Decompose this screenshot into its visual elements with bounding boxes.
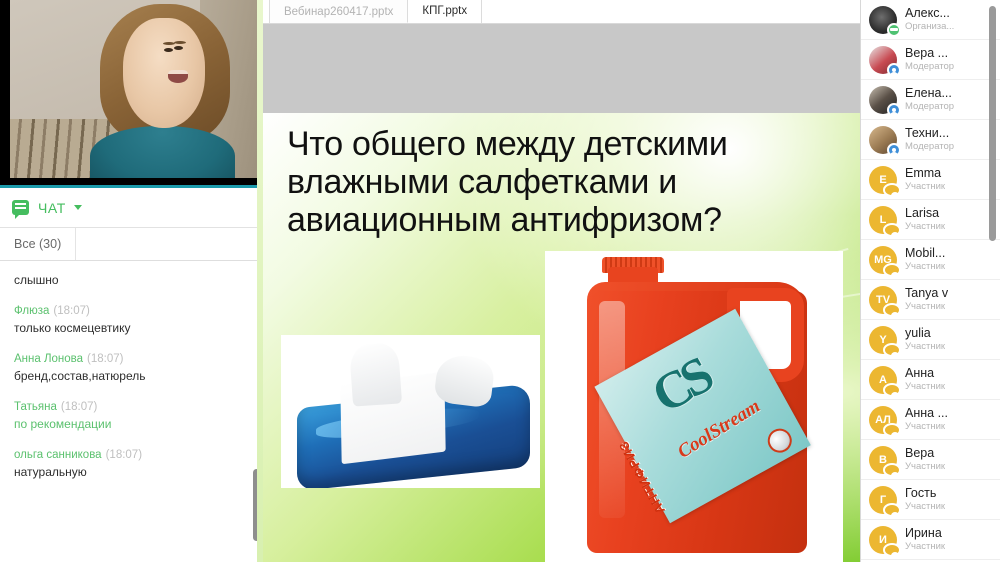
participant-role: Участник xyxy=(905,301,948,312)
chat-message-author: ольга санникова xyxy=(14,449,102,461)
participant-info: yulia Участник xyxy=(905,326,945,353)
presenter-webcam[interactable] xyxy=(0,0,263,188)
participant-info: Ирина Участник xyxy=(905,526,945,553)
chat-message-time: (18:07) xyxy=(61,401,97,413)
role-badge-participant-icon xyxy=(883,343,901,357)
participant-role: Участник xyxy=(905,381,945,392)
avatar: TV xyxy=(869,286,897,314)
participant-list[interactable]: Алекс... Организа... Вера ... Модератор … xyxy=(860,0,1000,562)
participant-name: Техни... xyxy=(905,126,954,140)
chat-message-text: бренд,состав,натюрель xyxy=(14,369,249,384)
chat-message-list[interactable]: слышно Флюза(18:07) только космецевтику … xyxy=(0,261,263,562)
participant-row[interactable]: И Ирина Участник xyxy=(861,520,1000,560)
role-badge-participant-icon xyxy=(883,223,901,237)
participant-info: Алекс... Организа... xyxy=(905,6,954,33)
chevron-down-icon[interactable] xyxy=(74,205,82,210)
antifreeze-bottle-photo: АНТИФРИЗ CS CoolStream xyxy=(545,251,843,562)
chat-message-meta: Анна Лонова(18:07) xyxy=(14,353,249,365)
participant-info: Елена... Модератор xyxy=(905,86,954,113)
role-badge-participant-icon xyxy=(883,463,901,477)
chat-message-author: Татьяна xyxy=(14,401,57,413)
participant-row[interactable]: В Вера Участник xyxy=(861,440,1000,480)
wet-wipes-photo xyxy=(281,335,540,488)
participant-info: Анна Участник xyxy=(905,366,945,393)
participant-role: Участник xyxy=(905,181,945,192)
role-badge-participant-icon xyxy=(883,543,901,557)
chat-message: Анна Лонова(18:07) бренд,состав,натюрель xyxy=(0,353,263,384)
presenter-brow-right xyxy=(174,41,186,44)
left-panel: ЧАТ Все (30) слышно Флюза(18:07) только … xyxy=(0,0,263,562)
chat-message-meta: ольга санникова(18:07) xyxy=(14,449,249,461)
participant-name: Вера ... xyxy=(905,46,954,60)
participant-role: Участник xyxy=(905,221,945,232)
presenter-eye-right xyxy=(174,46,183,50)
avatar: MG xyxy=(869,246,897,274)
role-badge-participant-icon xyxy=(883,263,901,277)
chat-filter-tabs: Все (30) xyxy=(0,228,263,261)
chat-message: Флюза(18:07) только космецевтику xyxy=(0,305,263,336)
document-tab-bar-filler xyxy=(481,0,861,23)
chat-message: ольга санникова(18:07) натуральную xyxy=(0,449,263,480)
participant-row[interactable]: Y yulia Участник xyxy=(861,320,1000,360)
chat-message-meta: Татьяна(18:07) xyxy=(14,401,249,413)
slide-toolbar-area xyxy=(263,24,860,113)
participant-list-scrollbar-thumb[interactable] xyxy=(989,6,996,241)
avatar: И xyxy=(869,526,897,554)
participant-row[interactable]: АЛ Анна ... Участник xyxy=(861,400,1000,440)
participant-role: Участник xyxy=(905,261,945,272)
presenter-face xyxy=(123,18,206,128)
slide-title: Что общего между детскими влажными салфе… xyxy=(287,125,817,239)
presentation-panel: Вебинар260417.pptx КПГ.pptx Что общего м… xyxy=(263,0,860,562)
participant-info: Tanya v Участник xyxy=(905,286,948,313)
avatar: А xyxy=(869,366,897,394)
chat-message-time: (18:07) xyxy=(53,305,89,317)
participant-name: Гость xyxy=(905,486,945,500)
webinar-window: ЧАТ Все (30) слышно Флюза(18:07) только … xyxy=(0,0,1000,562)
role-badge-participant-icon xyxy=(883,183,901,197)
chat-message-text: слышно xyxy=(14,273,249,288)
participant-info: Larisa Участник xyxy=(905,206,945,233)
participant-role: Модератор xyxy=(905,141,954,152)
role-badge-participant-icon xyxy=(883,423,901,437)
chat-tab-all[interactable]: Все (30) xyxy=(0,228,75,260)
chat-message: Татьяна(18:07) по рекомендации xyxy=(0,401,263,432)
role-badge-moderator-icon xyxy=(887,103,901,117)
role-badge-participant-icon xyxy=(883,503,901,517)
participant-role: Модератор xyxy=(905,101,954,112)
participant-role: Организа... xyxy=(905,21,954,32)
avatar: E xyxy=(869,166,897,194)
participant-name: Анна ... xyxy=(905,406,948,420)
participant-name: Tanya v xyxy=(905,286,948,300)
avatar xyxy=(869,86,897,114)
role-badge-moderator-icon xyxy=(887,63,901,77)
participant-row[interactable]: Алекс... Организа... xyxy=(861,0,1000,40)
avatar xyxy=(869,46,897,74)
participant-row[interactable]: А Анна Участник xyxy=(861,360,1000,400)
participant-info: Вера ... Модератор xyxy=(905,46,954,73)
role-badge-participant-icon xyxy=(883,383,901,397)
participant-name: yulia xyxy=(905,326,945,340)
participant-info: Emma Участник xyxy=(905,166,945,193)
document-tab-webinar[interactable]: Вебинар260417.pptx xyxy=(269,0,408,23)
document-tab-kpg[interactable]: КПГ.pptx xyxy=(407,0,482,23)
participant-name: Елена... xyxy=(905,86,954,100)
chat-message: слышно xyxy=(0,273,263,288)
avatar xyxy=(869,126,897,154)
participant-role: Участник xyxy=(905,541,945,552)
role-badge-participant-icon xyxy=(883,303,901,317)
participant-row[interactable]: E Emma Участник xyxy=(861,160,1000,200)
participant-info: Гость Участник xyxy=(905,486,945,513)
participant-info: Анна ... Участник xyxy=(905,406,948,433)
avatar: Y xyxy=(869,326,897,354)
presenter-torso xyxy=(90,126,235,178)
avatar: L xyxy=(869,206,897,234)
participant-name: Mobil... xyxy=(905,246,945,260)
participant-row[interactable]: Елена... Модератор xyxy=(861,80,1000,120)
chat-header[interactable]: ЧАТ xyxy=(0,188,263,228)
document-tab-bar: Вебинар260417.pptx КПГ.pptx xyxy=(263,0,860,24)
participant-row[interactable]: Вера ... Модератор xyxy=(861,40,1000,80)
participant-row[interactable]: TV Tanya v Участник xyxy=(861,280,1000,320)
presenter-eye-left xyxy=(164,48,173,52)
chat-message-meta: Флюза(18:07) xyxy=(14,305,249,317)
participant-role: Участник xyxy=(905,341,945,352)
role-badge-moderator-icon xyxy=(887,143,901,157)
wipes-sheet-secondary xyxy=(434,353,497,409)
participant-row[interactable]: L Larisa Участник xyxy=(861,200,1000,240)
chat-tab-empty[interactable] xyxy=(75,228,263,260)
participant-name: Emma xyxy=(905,166,945,180)
participant-info: Mobil... Участник xyxy=(905,246,945,273)
slide-canvas[interactable]: Что общего между детскими влажными салфе… xyxy=(263,113,860,562)
participant-row[interactable]: Г Гость Участник xyxy=(861,480,1000,520)
participant-info: Вера Участник xyxy=(905,446,945,473)
chat-message-text: натуральную xyxy=(14,465,249,480)
participant-row[interactable]: MG Mobil... Участник xyxy=(861,240,1000,280)
chat-message-author: Флюза xyxy=(14,305,49,317)
avatar: АЛ xyxy=(869,406,897,434)
participant-name: Алекс... xyxy=(905,6,954,20)
participant-name: Ирина xyxy=(905,526,945,540)
chat-message-time: (18:07) xyxy=(87,353,123,365)
avatar: В xyxy=(869,446,897,474)
participant-list-scrollbar[interactable] xyxy=(991,0,998,562)
chat-bubble-icon xyxy=(12,200,29,215)
chat-message-author: Анна Лонова xyxy=(14,353,83,365)
wipes-sheet xyxy=(349,343,402,407)
participant-name: Вера xyxy=(905,446,945,460)
participant-role: Участник xyxy=(905,421,948,432)
webcam-video-frame xyxy=(10,0,260,178)
participant-name: Анна xyxy=(905,366,945,380)
participant-role: Модератор xyxy=(905,61,954,72)
participant-row[interactable]: Техни... Модератор xyxy=(861,120,1000,160)
presenter-mouth xyxy=(168,70,188,83)
avatar xyxy=(869,6,897,34)
avatar: Г xyxy=(869,486,897,514)
role-badge-organizer-icon xyxy=(887,23,901,37)
participant-role: Участник xyxy=(905,501,945,512)
participant-role: Участник xyxy=(905,461,945,472)
chat-message-time: (18:07) xyxy=(106,449,142,461)
participant-info: Техни... Модератор xyxy=(905,126,954,153)
chat-message-text: по рекомендации xyxy=(14,417,249,432)
participant-name: Larisa xyxy=(905,206,945,220)
bottle-label-seal-icon xyxy=(764,425,797,458)
chat-panel-title: ЧАТ xyxy=(38,200,66,216)
chat-message-text: только космецевтику xyxy=(14,321,249,336)
